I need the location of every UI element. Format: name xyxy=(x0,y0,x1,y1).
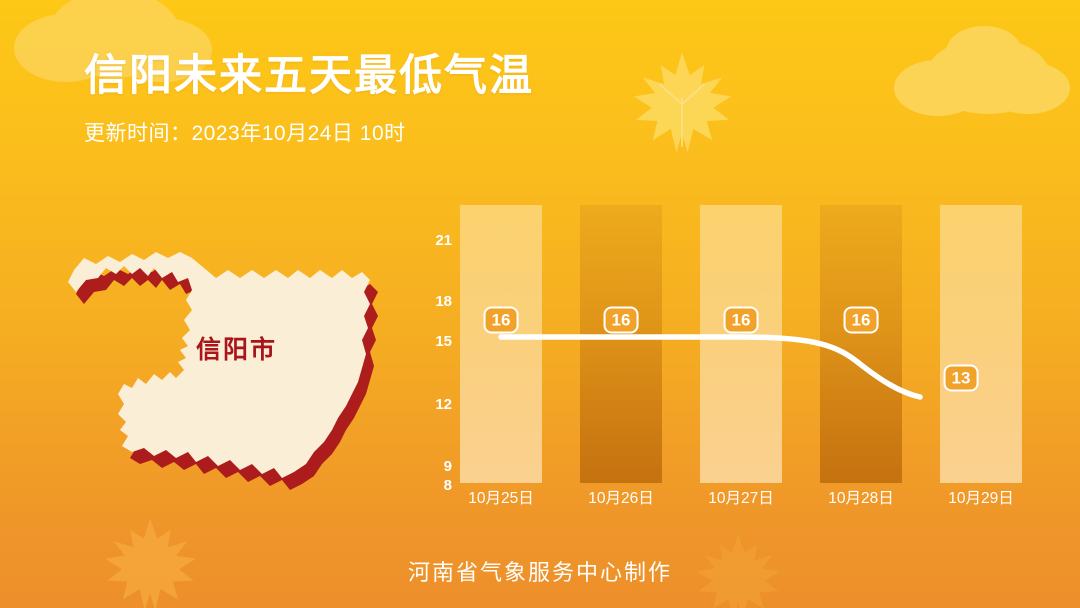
data-point-label: 16 xyxy=(844,307,879,334)
map-region-label: 信阳市 xyxy=(196,330,277,366)
x-axis-tick: 10月26日 xyxy=(561,486,681,508)
x-axis-tick: 10月29日 xyxy=(921,486,1041,508)
x-axis: 10月25日 10月26日 10月27日 10月28日 10月29日 xyxy=(460,486,1068,516)
data-point-label: 16 xyxy=(604,307,639,334)
page-title: 信阳未来五天最低气温 xyxy=(84,52,534,100)
data-point-label: 16 xyxy=(724,307,759,334)
poster-header: 信阳未来五天最低气温 更新时间：2023年10月24日 10时 xyxy=(84,52,534,147)
footer-credit: 河南省气象服务中心制作 xyxy=(0,555,1080,587)
temperature-chart: 21 18 15 12 9 8 16 16 16 16 13 10月25日 10… xyxy=(408,196,1068,526)
data-point-label: 13 xyxy=(944,365,979,392)
x-axis-tick: 10月28日 xyxy=(801,486,921,508)
cloud-icon xyxy=(880,8,1080,123)
map-shape-svg xyxy=(62,238,402,503)
xinyang-map xyxy=(62,238,402,503)
update-time-text: 更新时间：2023年10月24日 10时 xyxy=(84,117,534,147)
x-axis-tick: 10月25日 xyxy=(441,486,561,508)
x-axis-tick: 10月27日 xyxy=(681,486,801,508)
temperature-line xyxy=(408,196,1068,526)
weather-poster: 信阳未来五天最低气温 更新时间：2023年10月24日 10时 信阳市 21 1… xyxy=(0,0,1080,608)
data-point-label: 16 xyxy=(484,307,519,334)
maple-leaf-icon xyxy=(626,46,738,163)
